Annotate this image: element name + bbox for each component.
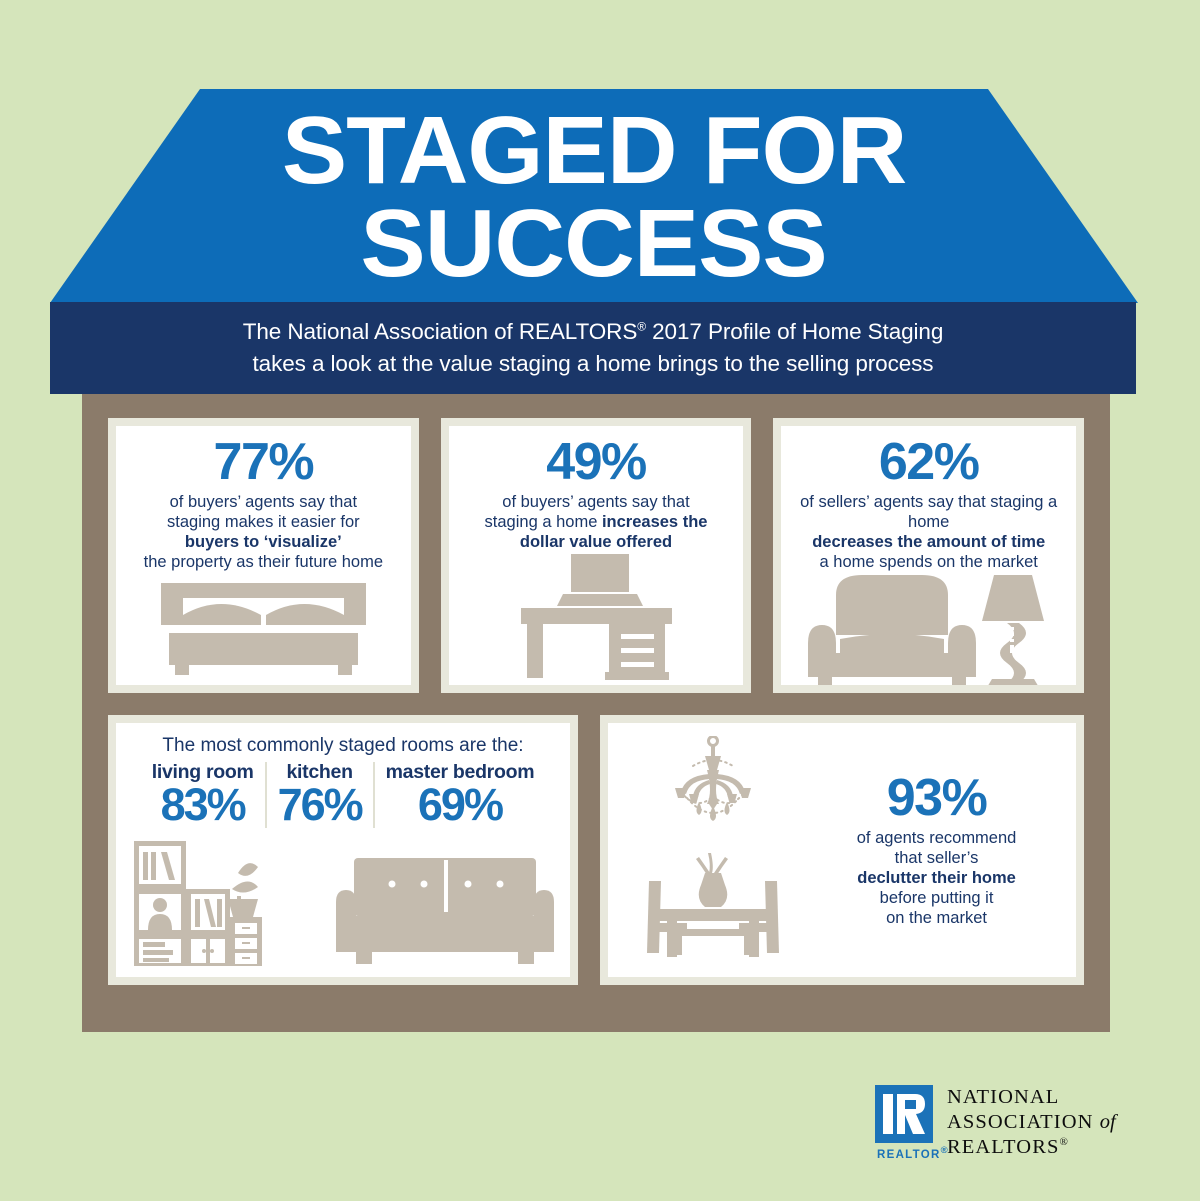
stat-percent-77: 77% — [214, 436, 314, 488]
stat-percent-49: 49% — [546, 436, 646, 488]
stat-line-bold-text: increases the — [602, 513, 707, 531]
registered-mark-icon: ® — [941, 1145, 949, 1156]
stat-line-bold: buyers to ‘visualize’ — [144, 532, 383, 552]
stat-card-inner: 62% of sellers’ agents say that staging … — [781, 426, 1076, 685]
rooms-icon-area — [126, 828, 560, 973]
stat-card-visualize: 77% of buyers’ agents say that staging m… — [108, 418, 419, 693]
subtitle-band: The National Association of REALTORS® 20… — [50, 302, 1136, 394]
stat-line-mixed: staging a home increases the — [485, 512, 708, 532]
declutter-text-area: 93% of agents recommend that seller’s de… — [811, 772, 1062, 929]
page-title: STAGED FOR SUCCESS — [50, 89, 1138, 303]
room-master-bedroom: master bedroom 69% — [373, 762, 546, 828]
title-line-1: STAGED FOR — [282, 104, 906, 197]
stat-line: of agents recommend — [857, 828, 1017, 848]
sofa-icon — [336, 858, 554, 971]
stat-line-bold: declutter their home — [857, 868, 1017, 888]
stat-card-time-on-market: 62% of sellers’ agents say that staging … — [773, 418, 1084, 693]
realtor-mark-label: REALTOR® — [877, 1145, 949, 1161]
stat-line: on the market — [857, 908, 1017, 928]
stat-line: before putting it — [857, 888, 1017, 908]
stat-line-bold-text: dollar value offered — [520, 533, 672, 551]
stat-percent-62: 62% — [879, 436, 979, 488]
realtor-r-mark-icon — [875, 1085, 933, 1143]
subtitle-text-after: 2017 Profile of Home Staging — [646, 319, 943, 344]
stat-card-dollar-value: 49% of buyers’ agents say that staging a… — [441, 418, 752, 693]
realtor-word: REALTOR — [877, 1149, 941, 1161]
registered-mark-icon: ® — [1059, 1136, 1068, 1148]
room-percent: 69% — [418, 782, 502, 828]
nar-logo: REALTOR® NATIONAL ASSOCIATION of REALTOR… — [875, 1085, 1116, 1160]
roof-panel: STAGED FOR SUCCESS — [50, 89, 1138, 303]
declutter-icon-area — [614, 729, 811, 971]
subtitle-text-before: The National Association of REALTORS — [243, 319, 638, 344]
title-line-2: SUCCESS — [361, 197, 827, 290]
stat-line: of buyers’ agents say that — [485, 492, 708, 512]
stat-line-bold-text: buyers to ‘visualize’ — [185, 533, 342, 551]
stat-text-dollar-value: of buyers’ agents say that staging a hom… — [481, 492, 712, 552]
logo-line-1: NATIONAL — [947, 1085, 1116, 1110]
stats-row-top: 77% of buyers’ agents say that staging m… — [108, 418, 1084, 693]
dining-table-vase-icon — [633, 851, 793, 964]
bookshelf-plant-icon — [134, 841, 262, 971]
logo-line-3-text: REALTORS — [947, 1136, 1059, 1158]
stat-line: that seller’s — [857, 848, 1017, 868]
nar-logo-wordmark: NATIONAL ASSOCIATION of REALTORS® — [947, 1085, 1116, 1160]
stat-card-staged-rooms: The most commonly staged rooms are the: … — [108, 715, 578, 985]
armchair-lamp-icon — [789, 573, 1068, 686]
room-percent: 83% — [161, 782, 245, 828]
rooms-heading: The most commonly staged rooms are the: — [162, 735, 523, 757]
stat-text-declutter: of agents recommend that seller’s declut… — [853, 828, 1021, 929]
chandelier-icon — [653, 736, 773, 837]
stat-line: staging makes it easier for — [144, 512, 383, 532]
stat-line: of buyers’ agents say that — [144, 492, 383, 512]
logo-line-2-text: ASSOCIATION — [947, 1111, 1094, 1133]
house-body: 77% of buyers’ agents say that staging m… — [82, 394, 1110, 1032]
stat-line-plain: staging a home — [485, 513, 602, 531]
stat-percent-93: 93% — [887, 772, 987, 824]
logo-line-2-italic: of — [1100, 1111, 1116, 1133]
stat-line-bold-text: decreases the amount of time — [812, 533, 1045, 551]
stat-line: the property as their future home — [144, 552, 383, 572]
rooms-stats-row: living room 83% kitchen 76% master bedro… — [126, 762, 560, 828]
registered-mark-icon: ® — [637, 320, 646, 334]
infographic-house: STAGED FOR SUCCESS The National Associat… — [0, 0, 1200, 1201]
bed-icon — [124, 573, 403, 680]
stat-line-bold-text: declutter their home — [857, 869, 1016, 887]
subtitle-line-2: takes a look at the value staging a home… — [253, 348, 934, 380]
stat-card-declutter: 93% of agents recommend that seller’s de… — [600, 715, 1084, 985]
stat-card-inner: 49% of buyers’ agents say that staging a… — [449, 426, 744, 685]
stat-line-bold: decreases the amount of time — [793, 532, 1064, 552]
stat-card-inner: The most commonly staged rooms are the: … — [116, 723, 570, 977]
subtitle-line-1: The National Association of REALTORS® 20… — [243, 316, 944, 348]
logo-line-2: ASSOCIATION of — [947, 1110, 1116, 1135]
stat-line: a home spends on the market — [793, 552, 1064, 572]
stat-text-time-on-market: of sellers’ agents say that staging a ho… — [789, 492, 1068, 573]
room-kitchen: kitchen 76% — [265, 762, 373, 828]
stat-card-inner: 77% of buyers’ agents say that staging m… — [116, 426, 411, 685]
stat-card-inner: 93% of agents recommend that seller’s de… — [608, 723, 1076, 977]
stats-row-bottom: The most commonly staged rooms are the: … — [108, 715, 1084, 985]
room-percent: 76% — [278, 782, 362, 828]
stat-line-bold: dollar value offered — [485, 532, 708, 552]
room-living-room: living room 83% — [141, 762, 265, 828]
stat-line: of sellers’ agents say that staging a ho… — [793, 492, 1064, 532]
logo-line-3: REALTORS® — [947, 1135, 1116, 1160]
desk-icon — [457, 552, 736, 684]
stat-text-visualize: of buyers’ agents say that staging makes… — [140, 492, 387, 573]
